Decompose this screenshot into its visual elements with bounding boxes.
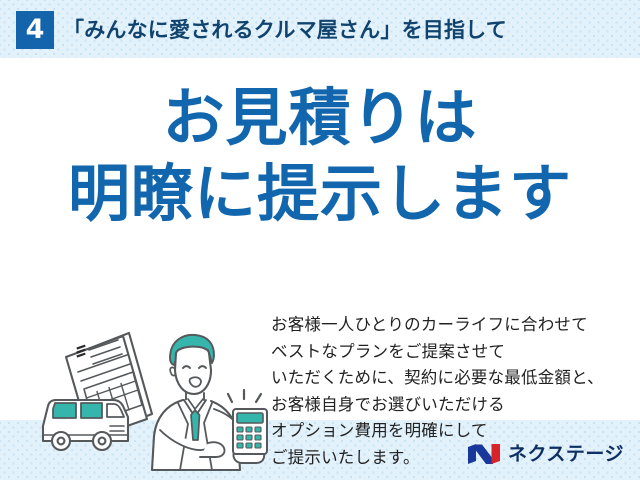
header-title: 「みんなに愛されるクルマ屋さん」を目指して	[63, 12, 507, 48]
body-line: お客様自身でお選びいただける	[271, 392, 640, 419]
nextage-n-mark-icon	[467, 442, 501, 466]
header: 4 「みんなに愛されるクルマ屋さん」を目指して	[0, 0, 640, 58]
brand-logo: ネクステージ	[467, 439, 624, 469]
advertisement-banner: 4 「みんなに愛されるクルマ屋さん」を目指して お見積りは 明瞭に提示します お…	[0, 0, 640, 480]
content-panel: お見積りは 明瞭に提示します お客様一人ひとりのカーライフに合わせて ベストなプ…	[0, 58, 640, 420]
headline: お見積りは 明瞭に提示します	[0, 82, 640, 230]
salesman-with-calculator-quote-and-van-icon	[28, 310, 278, 478]
step-number-badge: 4	[16, 11, 54, 49]
body-line: いただくために、契約に必要な最低金額と、	[271, 365, 640, 392]
headline-line-1: お見積りは	[0, 82, 640, 154]
body-line: お客様一人ひとりのカーライフに合わせて	[271, 312, 640, 339]
brand-logo-text: ネクステージ	[508, 445, 624, 464]
body-line: ベストなプランをご提案させて	[271, 339, 640, 366]
illustration	[28, 310, 278, 478]
headline-line-2: 明瞭に提示します	[0, 158, 640, 230]
